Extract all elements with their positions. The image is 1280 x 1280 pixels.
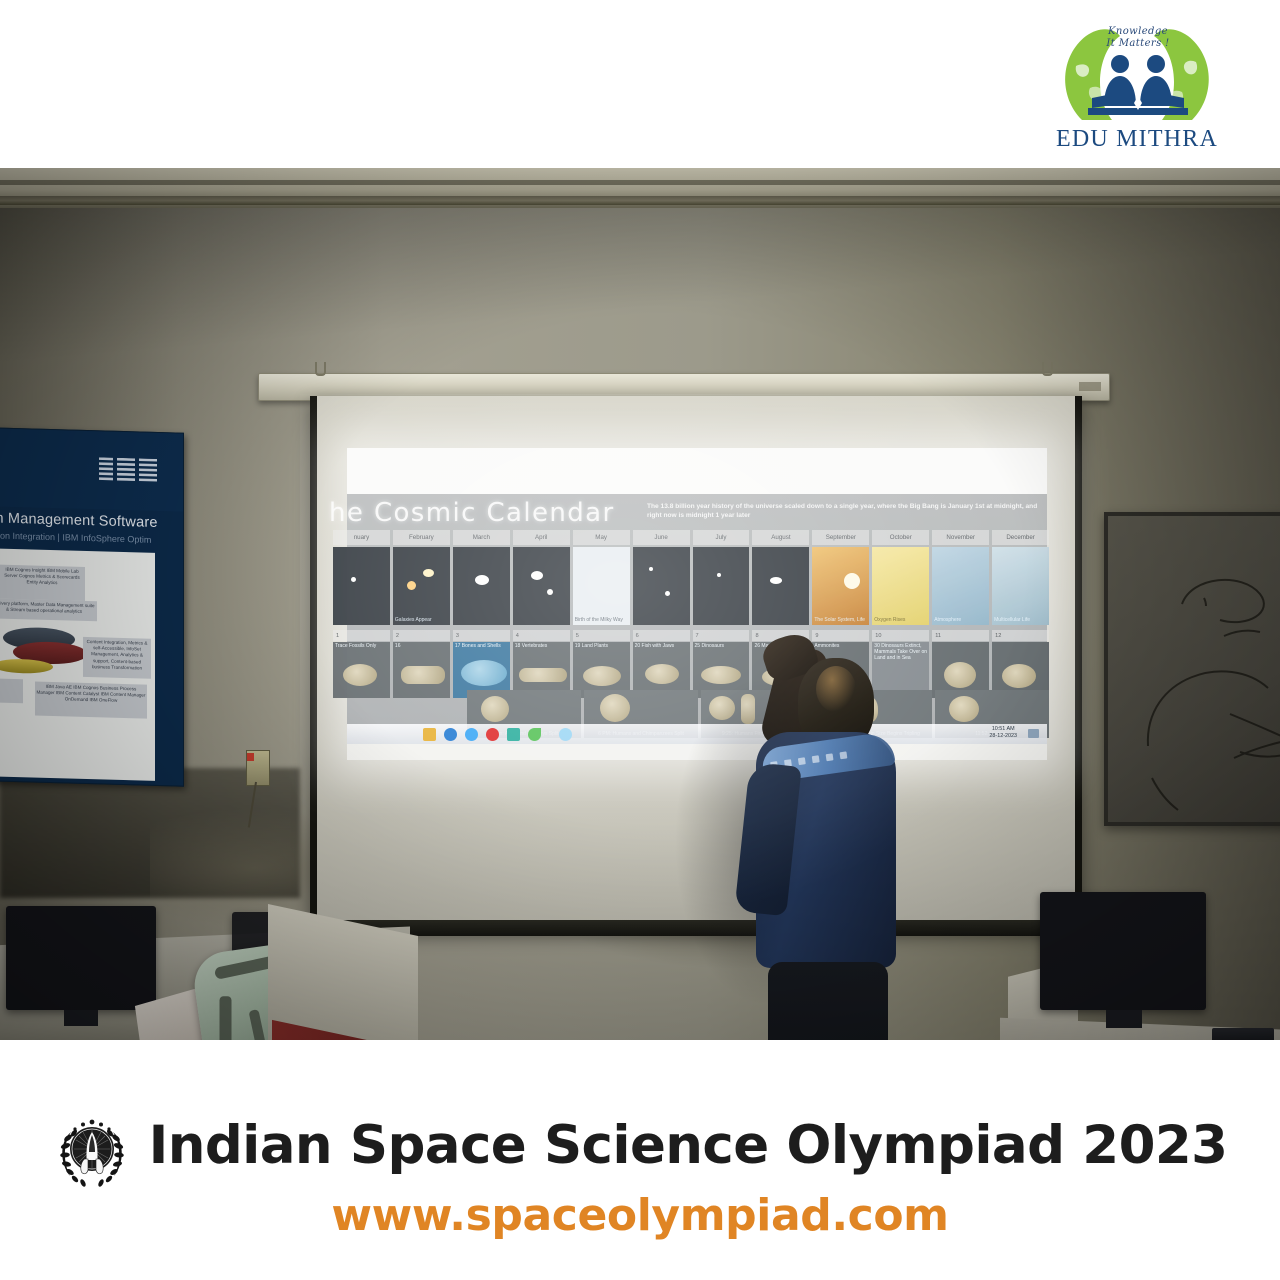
slide-description: The 13.8 billion year history of the uni… <box>647 502 1042 520</box>
cosmic-cell: Birth of the Milky Way <box>573 547 630 625</box>
footer-title: Indian Space Science Olympiad 2023 <box>149 1115 1228 1176</box>
children-reading-icon <box>1086 52 1190 118</box>
whiteboard <box>1104 512 1280 826</box>
cosmic-cell-caption: Oxygen Rises <box>874 617 927 623</box>
ceiling-conduit-upper <box>0 180 1280 185</box>
edu-mithra-logo: Knowledge It Matters ! EDU MITHRA <box>1042 8 1232 163</box>
poster-page: Knowledge It Matters ! EDU MITHRA <box>0 0 1280 1280</box>
month-cell: May <box>573 530 630 545</box>
month-header-row: nuary February March April May June July… <box>333 530 1049 545</box>
cosmic-cell <box>513 547 570 625</box>
presenter-legs <box>768 962 888 1040</box>
poster-header <box>0 428 183 511</box>
mail-icon[interactable] <box>507 728 520 741</box>
poster-subtitle: Information Integration | IBM InfoSphere… <box>0 530 183 545</box>
cosmic-cell <box>633 547 690 625</box>
poster-box-3: Content Integration, Metrics & self-Acce… <box>83 637 151 679</box>
whiteboard-scribble-icon <box>1108 516 1280 822</box>
day-number: 12 <box>992 630 1049 641</box>
projection-white-band <box>347 448 1047 494</box>
day-number: 4 <box>513 630 570 641</box>
logo-brand-text: EDU MITHRA <box>1042 126 1232 153</box>
fossil-label: 16 <box>395 643 448 649</box>
day-number: 3 <box>453 630 510 641</box>
cosmic-cell: The Solar System, Life <box>812 547 869 625</box>
logo-tagline-line2: It Matters ! <box>1088 38 1188 50</box>
day-number-row: 1 2 3 4 5 6 7 8 9 10 11 12 <box>333 630 1049 641</box>
space-shuttle-laurel-emblem-icon <box>53 1102 131 1188</box>
fossil-cell: 16 <box>393 642 450 698</box>
poster-box-5 <box>0 678 23 703</box>
cosmic-cell-caption: Multicellular Life <box>994 617 1047 623</box>
poster-title: nation Management Software <box>0 510 183 531</box>
search-icon[interactable] <box>559 728 572 741</box>
ibm-poster: nation Management Software Information I… <box>0 427 184 786</box>
action-center-icon[interactable] <box>1028 729 1039 738</box>
footer-title-row: Indian Space Science Olympiad 2023 <box>0 1102 1280 1188</box>
screen-brand-label <box>1079 382 1101 391</box>
cosmic-image-row: Galaxies Appear <box>333 547 1049 625</box>
month-cell: September <box>812 530 869 545</box>
poster-box-2: Delivery platform, Master Data Managemen… <box>0 598 97 621</box>
fossil-label: 18 Vertebrates <box>515 643 568 649</box>
cosmic-cell <box>453 547 510 625</box>
monitor-right <box>1040 892 1206 1010</box>
taskbar-icon-group[interactable] <box>423 728 572 741</box>
monitor-right-stand <box>1106 1010 1142 1028</box>
month-cell: nuary <box>333 530 390 545</box>
day-number: 11 <box>932 630 989 641</box>
logo-tagline-line1: Knowledge <box>1088 26 1188 38</box>
fossil-cell: Trace Fossils Only <box>333 642 390 698</box>
switch-indicator-icon <box>247 753 254 761</box>
browser-icon[interactable] <box>465 728 478 741</box>
day-number: 6 <box>633 630 690 641</box>
month-cell: February <box>393 530 450 545</box>
month-cell: July <box>693 530 750 545</box>
file-explorer-icon[interactable] <box>423 728 436 741</box>
slide-title: he Cosmic Calendar <box>329 498 615 528</box>
month-cell: June <box>633 530 690 545</box>
classroom-photo: nation Management Software Information I… <box>0 168 1280 1040</box>
keyboard-right-2[interactable] <box>1212 1028 1274 1040</box>
month-cell: December <box>992 530 1049 545</box>
cosmic-cell <box>693 547 750 625</box>
cosmic-cell-caption: The Solar System, Life <box>814 617 867 623</box>
leaf-icon[interactable] <box>528 728 541 741</box>
taskbar-clock[interactable]: 10:51 AM 28-12-2023 <box>989 726 1017 740</box>
day-number: 1 <box>333 630 390 641</box>
poster-box-4: IBM Java AE IBM Cognos Business Process … <box>35 682 147 719</box>
monitor-left-stand <box>64 1010 98 1026</box>
media-player-icon[interactable] <box>444 728 457 741</box>
ceiling-conduit <box>0 196 1280 205</box>
presenter-hair-highlight <box>816 666 856 712</box>
month-cell: April <box>513 530 570 545</box>
ibm-logo-icon <box>99 457 157 483</box>
logo-tagline: Knowledge It Matters ! <box>1088 26 1188 50</box>
cosmic-cell: Galaxies Appear <box>393 547 450 625</box>
fossil-label: 20 Fish with Jaws <box>635 643 688 649</box>
cosmic-cell-caption: Atmosphere <box>934 617 987 623</box>
fossil-label: 17 Bones and Shells <box>455 643 508 649</box>
cosmic-cell-caption: Birth of the Milky Way <box>575 617 628 623</box>
page-footer: Indian Space Science Olympiad 2023 www.s… <box>0 1040 1280 1280</box>
month-cell: November <box>932 530 989 545</box>
footer-url[interactable]: www.spaceolympiad.com <box>0 1190 1280 1241</box>
month-cell: October <box>872 530 929 545</box>
poster-box-1: IBM Cognos Insight IBM Mobile Lab Server… <box>0 565 85 601</box>
cosmic-cell: Multicellular Life <box>992 547 1049 625</box>
cosmic-cell <box>752 547 809 625</box>
cosmic-cell: Oxygen Rises <box>872 547 929 625</box>
clock-time: 10:51 AM <box>989 726 1017 733</box>
youtube-icon[interactable] <box>486 728 499 741</box>
cosmic-cell <box>333 547 390 625</box>
presenter <box>740 636 920 1040</box>
monitor-left <box>6 906 156 1010</box>
month-cell: March <box>453 530 510 545</box>
day-number: 5 <box>573 630 630 641</box>
poster-diagram: IBM Cognos Insight IBM Mobile Lab Server… <box>0 548 155 781</box>
fossil-label: Trace Fossils Only <box>335 643 388 649</box>
page-header: Knowledge It Matters ! EDU MITHRA <box>0 0 1280 168</box>
fossil-label: 19 Land Plants <box>575 643 628 649</box>
clock-date: 28-12-2023 <box>989 733 1017 740</box>
month-cell: August <box>752 530 809 545</box>
day-number: 2 <box>393 630 450 641</box>
cosmic-cell-caption: Galaxies Appear <box>395 617 448 623</box>
cosmic-cell: Atmosphere <box>932 547 989 625</box>
